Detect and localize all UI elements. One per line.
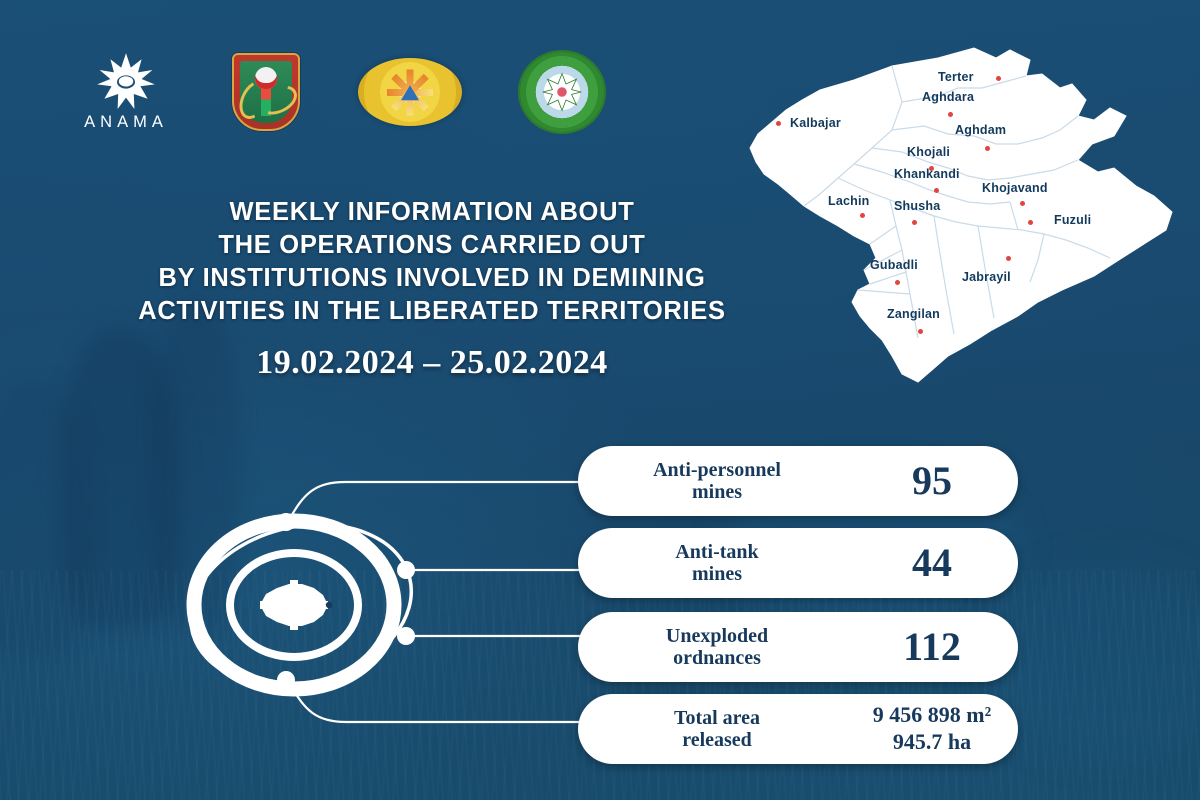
stat-pill-total-area-released: Total areareleased9 456 898 m²945.7 ha [578,694,1018,764]
stat-label-anti-personnel-mines: Anti-personnelmines [578,459,846,504]
stat-label-line-2: released [588,729,846,751]
stat-value-anti-personnel-mines: 95 [846,461,1018,501]
map-marker-fuzuli [1028,220,1033,225]
ministry-of-emergency-situations-emblem [358,58,462,126]
page-title: WEEKLY INFORMATION ABOUT THE OPERATIONS … [62,196,802,329]
stat-value-total-area-released: 9 456 898 m²945.7 ha [846,702,1018,756]
azerbaijan-state-seal-emblem [520,52,604,132]
map-marker-jabrayil [1006,256,1011,261]
map-marker-aghdara [948,112,953,117]
stat-label-line-2: mines [588,563,846,585]
map-label-zangilan: Zangilan [887,307,940,321]
title-line-3: BY INSTITUTIONS INVOLVED IN DEMINING [62,262,802,295]
map-label-aghdam: Aghdam [955,123,1006,137]
demining-target-emblem [186,500,416,710]
anama-star-icon [95,52,157,112]
stat-value-line-1: 112 [846,627,1018,667]
stat-label-line-2: mines [588,481,846,503]
stat-value-line-1: 9 456 898 m² [846,702,1018,729]
map-marker-khojavand [1020,201,1025,206]
map-marker-lachin [860,213,865,218]
map-label-jabrayil: Jabrayil [962,270,1011,284]
map-marker-aghdam [985,146,990,151]
map-marker-zangilan [918,329,923,334]
map-marker-terter [996,76,1001,81]
title-line-2: THE OPERATIONS CARRIED OUT [62,229,802,262]
map-label-lachin: Lachin [828,194,869,208]
stat-pill-anti-personnel-mines: Anti-personnelmines95 [578,446,1018,516]
map-marker-khankandi [934,188,939,193]
stat-label-line-1: Total area [588,707,846,729]
stat-label-line-2: ordnances [588,647,846,669]
stat-value-line-1: 44 [846,543,1018,583]
stat-pill-anti-tank-mines: Anti-tankmines44 [578,528,1018,598]
eight-point-star-icon [542,72,582,112]
map-marker-kalbajar [776,121,781,126]
emblem-row: ANAMA [78,44,604,140]
stat-label-line-1: Anti-personnel [588,459,846,481]
state-border-service-emblem [232,53,300,131]
stat-value-line-2: 945.7 ha [846,729,1018,756]
map-label-gubadli: Gubadli [870,258,918,272]
liberated-territories-map: TerterAghdaraKalbajarAghdamKhojaliKhanka… [742,44,1200,392]
anama-emblem: ANAMA [78,46,174,138]
map-marker-gubadli [895,280,900,285]
stat-label-total-area-released: Total areareleased [578,707,846,752]
stat-value-line-1: 95 [846,461,1018,501]
title-line-4: ACTIVITIES IN THE LIBERATED TERRITORIES [62,295,802,328]
map-label-kalbajar: Kalbajar [790,116,841,130]
map-label-khojavand: Khojavand [982,181,1048,195]
map-label-khojali: Khojali [907,145,950,159]
date-range: 19.02.2024 – 25.02.2024 [62,344,802,382]
map-label-fuzuli: Fuzuli [1054,213,1091,227]
anama-wordmark: ANAMA [84,113,168,132]
stat-value-anti-tank-mines: 44 [846,543,1018,583]
map-label-aghdara: Aghdara [922,90,974,104]
stat-label-line-1: Anti-tank [588,541,846,563]
map-label-terter: Terter [938,70,974,84]
stat-value-unexploded-ordnances: 112 [846,627,1018,667]
title-line-1: WEEKLY INFORMATION ABOUT [62,196,802,229]
map-label-shusha: Shusha [894,199,940,213]
stat-label-unexploded-ordnances: Unexplodedordnances [578,625,846,670]
stat-label-line-1: Unexploded [588,625,846,647]
map-marker-shusha [912,220,917,225]
stat-label-anti-tank-mines: Anti-tankmines [578,541,846,586]
map-label-khankandi: Khankandi [894,167,960,181]
stat-pill-unexploded-ordnances: Unexplodedordnances112 [578,612,1018,682]
infographic-poster: ANAMA WEEKLY INFORMATION ABOUT THE [0,0,1200,800]
